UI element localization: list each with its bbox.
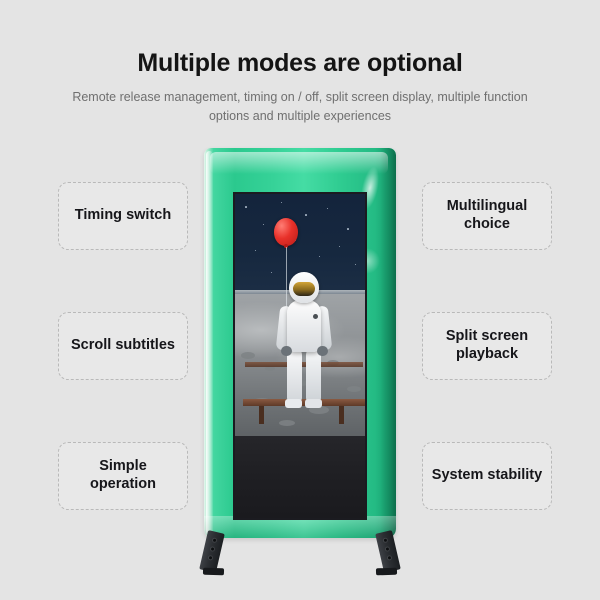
- ground-rock: [279, 420, 295, 426]
- bench-seat: [243, 399, 365, 406]
- kiosk-foot-left: [199, 530, 225, 573]
- feature-card-simple-operation[interactable]: Simple operation: [58, 442, 188, 510]
- star: [255, 250, 256, 251]
- star: [281, 202, 282, 203]
- kiosk-gloss-highlight-left: [206, 151, 213, 535]
- star: [245, 206, 247, 208]
- astronaut-suit-badge: [313, 314, 318, 319]
- feature-card-timing-switch[interactable]: Timing switch: [58, 182, 188, 250]
- feature-card-system-stability[interactable]: System stability: [422, 442, 552, 510]
- screen-inactive-area: [235, 436, 365, 518]
- foot-bolt: [388, 556, 392, 560]
- bench-leg: [339, 406, 344, 424]
- feature-card-label: Scroll subtitles: [65, 337, 181, 355]
- kiosk-foot-pad-left: [203, 568, 224, 576]
- kiosk-cabinet: [204, 148, 396, 538]
- feature-card-label: Split screen playback: [423, 328, 551, 363]
- foot-bolt: [213, 538, 217, 542]
- star: [305, 214, 307, 216]
- star: [355, 264, 356, 265]
- star: [347, 228, 349, 230]
- astronaut-visor: [293, 282, 315, 296]
- feature-card-label: Timing switch: [69, 207, 177, 225]
- star: [339, 246, 340, 247]
- feature-card-label: Simple operation: [59, 458, 187, 493]
- astronaut-glove-left: [281, 346, 292, 356]
- feature-card-label: Multilingual choice: [423, 198, 551, 233]
- page-title: Multiple modes are optional: [0, 50, 600, 78]
- star: [271, 272, 272, 273]
- header: Multiple modes are optional Remote relea…: [0, 0, 600, 126]
- feature-card-label: System stability: [426, 467, 548, 485]
- ground-rock: [347, 386, 361, 392]
- foot-bolt: [384, 538, 388, 542]
- kiosk-display-screen[interactable]: [233, 192, 367, 520]
- astronaut-torso: [287, 300, 321, 352]
- kiosk-foot-right: [375, 530, 401, 573]
- foot-bolt: [386, 547, 390, 551]
- astronaut-boot-left: [285, 399, 302, 408]
- star: [263, 224, 264, 225]
- foot-bolt: [209, 556, 213, 560]
- kiosk-gloss-highlight-top: [210, 152, 388, 174]
- kiosk-edge-shadow: [380, 148, 396, 538]
- ground-rock: [241, 352, 255, 359]
- page-subtitle: Remote release management, timing on / o…: [65, 88, 535, 127]
- bench-leg: [259, 406, 264, 424]
- feature-card-multilingual-choice[interactable]: Multilingual choice: [422, 182, 552, 250]
- astronaut-glove-right: [317, 346, 328, 356]
- balloon-string: [286, 247, 287, 309]
- feature-card-scroll-subtitles[interactable]: Scroll subtitles: [58, 312, 188, 380]
- astronaut-leg-right: [306, 348, 321, 402]
- astronaut-boot-right: [305, 399, 322, 408]
- kiosk-foot-pad-right: [376, 568, 397, 576]
- foot-bolt: [211, 547, 215, 551]
- bench-backrest: [245, 362, 363, 367]
- digital-signage-kiosk: [204, 148, 396, 584]
- star: [327, 208, 328, 209]
- star: [319, 256, 320, 257]
- red-balloon: [274, 218, 298, 246]
- feature-card-split-screen-playback[interactable]: Split screen playback: [422, 312, 552, 380]
- astronaut-leg-left: [287, 348, 302, 402]
